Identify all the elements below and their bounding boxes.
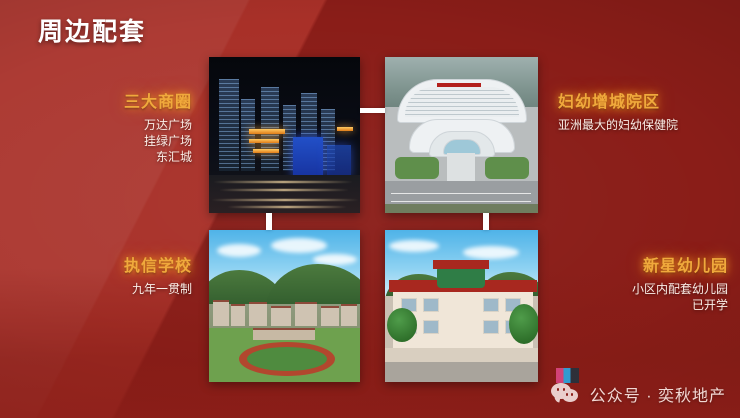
photo-cloud (271, 238, 327, 253)
watermark-text: 公众号 · 奕秋地产 (590, 382, 726, 406)
color-chip-icon (556, 368, 579, 383)
page-title: 周边配套 (38, 12, 146, 48)
photo-plaza (447, 153, 475, 183)
photo-kindergarten-building (385, 230, 538, 382)
photo-building (271, 306, 291, 326)
photo-lawn (485, 157, 529, 179)
photo-building (213, 300, 229, 326)
label-zhixin-school: 执信学校 九年一贯制 (0, 252, 200, 297)
photo-building (231, 304, 245, 326)
photo-road (385, 362, 538, 382)
label-heading: 三大商圈 (0, 88, 192, 112)
photo-road-light-trail (227, 206, 347, 208)
photo-boundary-wall (385, 348, 538, 362)
photo-road-marking (391, 193, 531, 194)
photo-tree (387, 308, 417, 342)
photo-signage (337, 127, 353, 131)
photo-hospital-building (385, 57, 538, 213)
photo-window (483, 320, 499, 334)
photo-lit-facade (293, 137, 323, 177)
photo-building (249, 302, 267, 326)
photo-window (423, 298, 439, 312)
label-subtitle: 小区内配套幼儿园 已开学 (548, 281, 728, 313)
photo-building (341, 304, 357, 326)
photo-verge (385, 204, 538, 213)
photo-kindergarten-roof (433, 260, 489, 269)
watermark: 公众号 · 奕秋地产 (551, 382, 726, 406)
photo-road-light-trail (213, 181, 353, 183)
photo-cloud (389, 240, 439, 252)
label-heading: 执信学校 (0, 252, 192, 276)
photo-cloud (463, 246, 519, 259)
photo-signage (249, 139, 279, 143)
photo-window (423, 320, 439, 334)
photo-cloud (217, 244, 261, 257)
photo-building (321, 306, 339, 326)
photo-road-light-trail (219, 189, 349, 191)
label-subtitle: 亚洲最大的妇幼保健院 (558, 117, 740, 133)
label-heading: 新星幼儿园 (548, 252, 728, 276)
photo-hospital-windows (405, 87, 519, 117)
label-three-business-districts: 三大商圈 万达广场 挂绿广场 东汇城 (0, 88, 200, 166)
photo-road-light-trail (211, 199, 359, 201)
photo-kindergarten-sign (437, 266, 485, 288)
connector-vertical-right (483, 213, 489, 230)
photo-hospital-sign (437, 83, 481, 87)
photo-lawn (395, 157, 439, 179)
slide-root: 周边配套 (0, 0, 740, 418)
photo-building (295, 302, 317, 326)
photo-tower (219, 79, 239, 171)
photo-hillside-school-campus (209, 230, 360, 382)
wechat-icon (551, 382, 581, 406)
photo-school-building (253, 328, 315, 340)
photo-tower (241, 99, 255, 171)
label-subtitle: 万达广场 挂绿广场 东汇城 (0, 117, 192, 166)
label-heading: 妇幼增城院区 (558, 88, 740, 112)
photo-road-marking (391, 201, 531, 202)
photo-tree (509, 304, 538, 344)
connector-vertical-left (266, 213, 272, 230)
photo-lit-facade (327, 145, 351, 177)
connector-horizontal-top (360, 108, 385, 113)
label-subtitle: 九年一贯制 (0, 281, 192, 297)
label-xinxing-kindergarten: 新星幼儿园 小区内配套幼儿园 已开学 (548, 252, 740, 313)
photo-window (483, 298, 499, 312)
photo-night-commercial-district (209, 57, 360, 213)
photo-signage (253, 149, 279, 153)
photo-track-infield (247, 347, 327, 371)
label-maternity-hospital: 妇幼增城院区 亚洲最大的妇幼保健院 (548, 88, 740, 133)
wechat-bubble-small (562, 389, 578, 402)
photo-signage (249, 129, 285, 134)
